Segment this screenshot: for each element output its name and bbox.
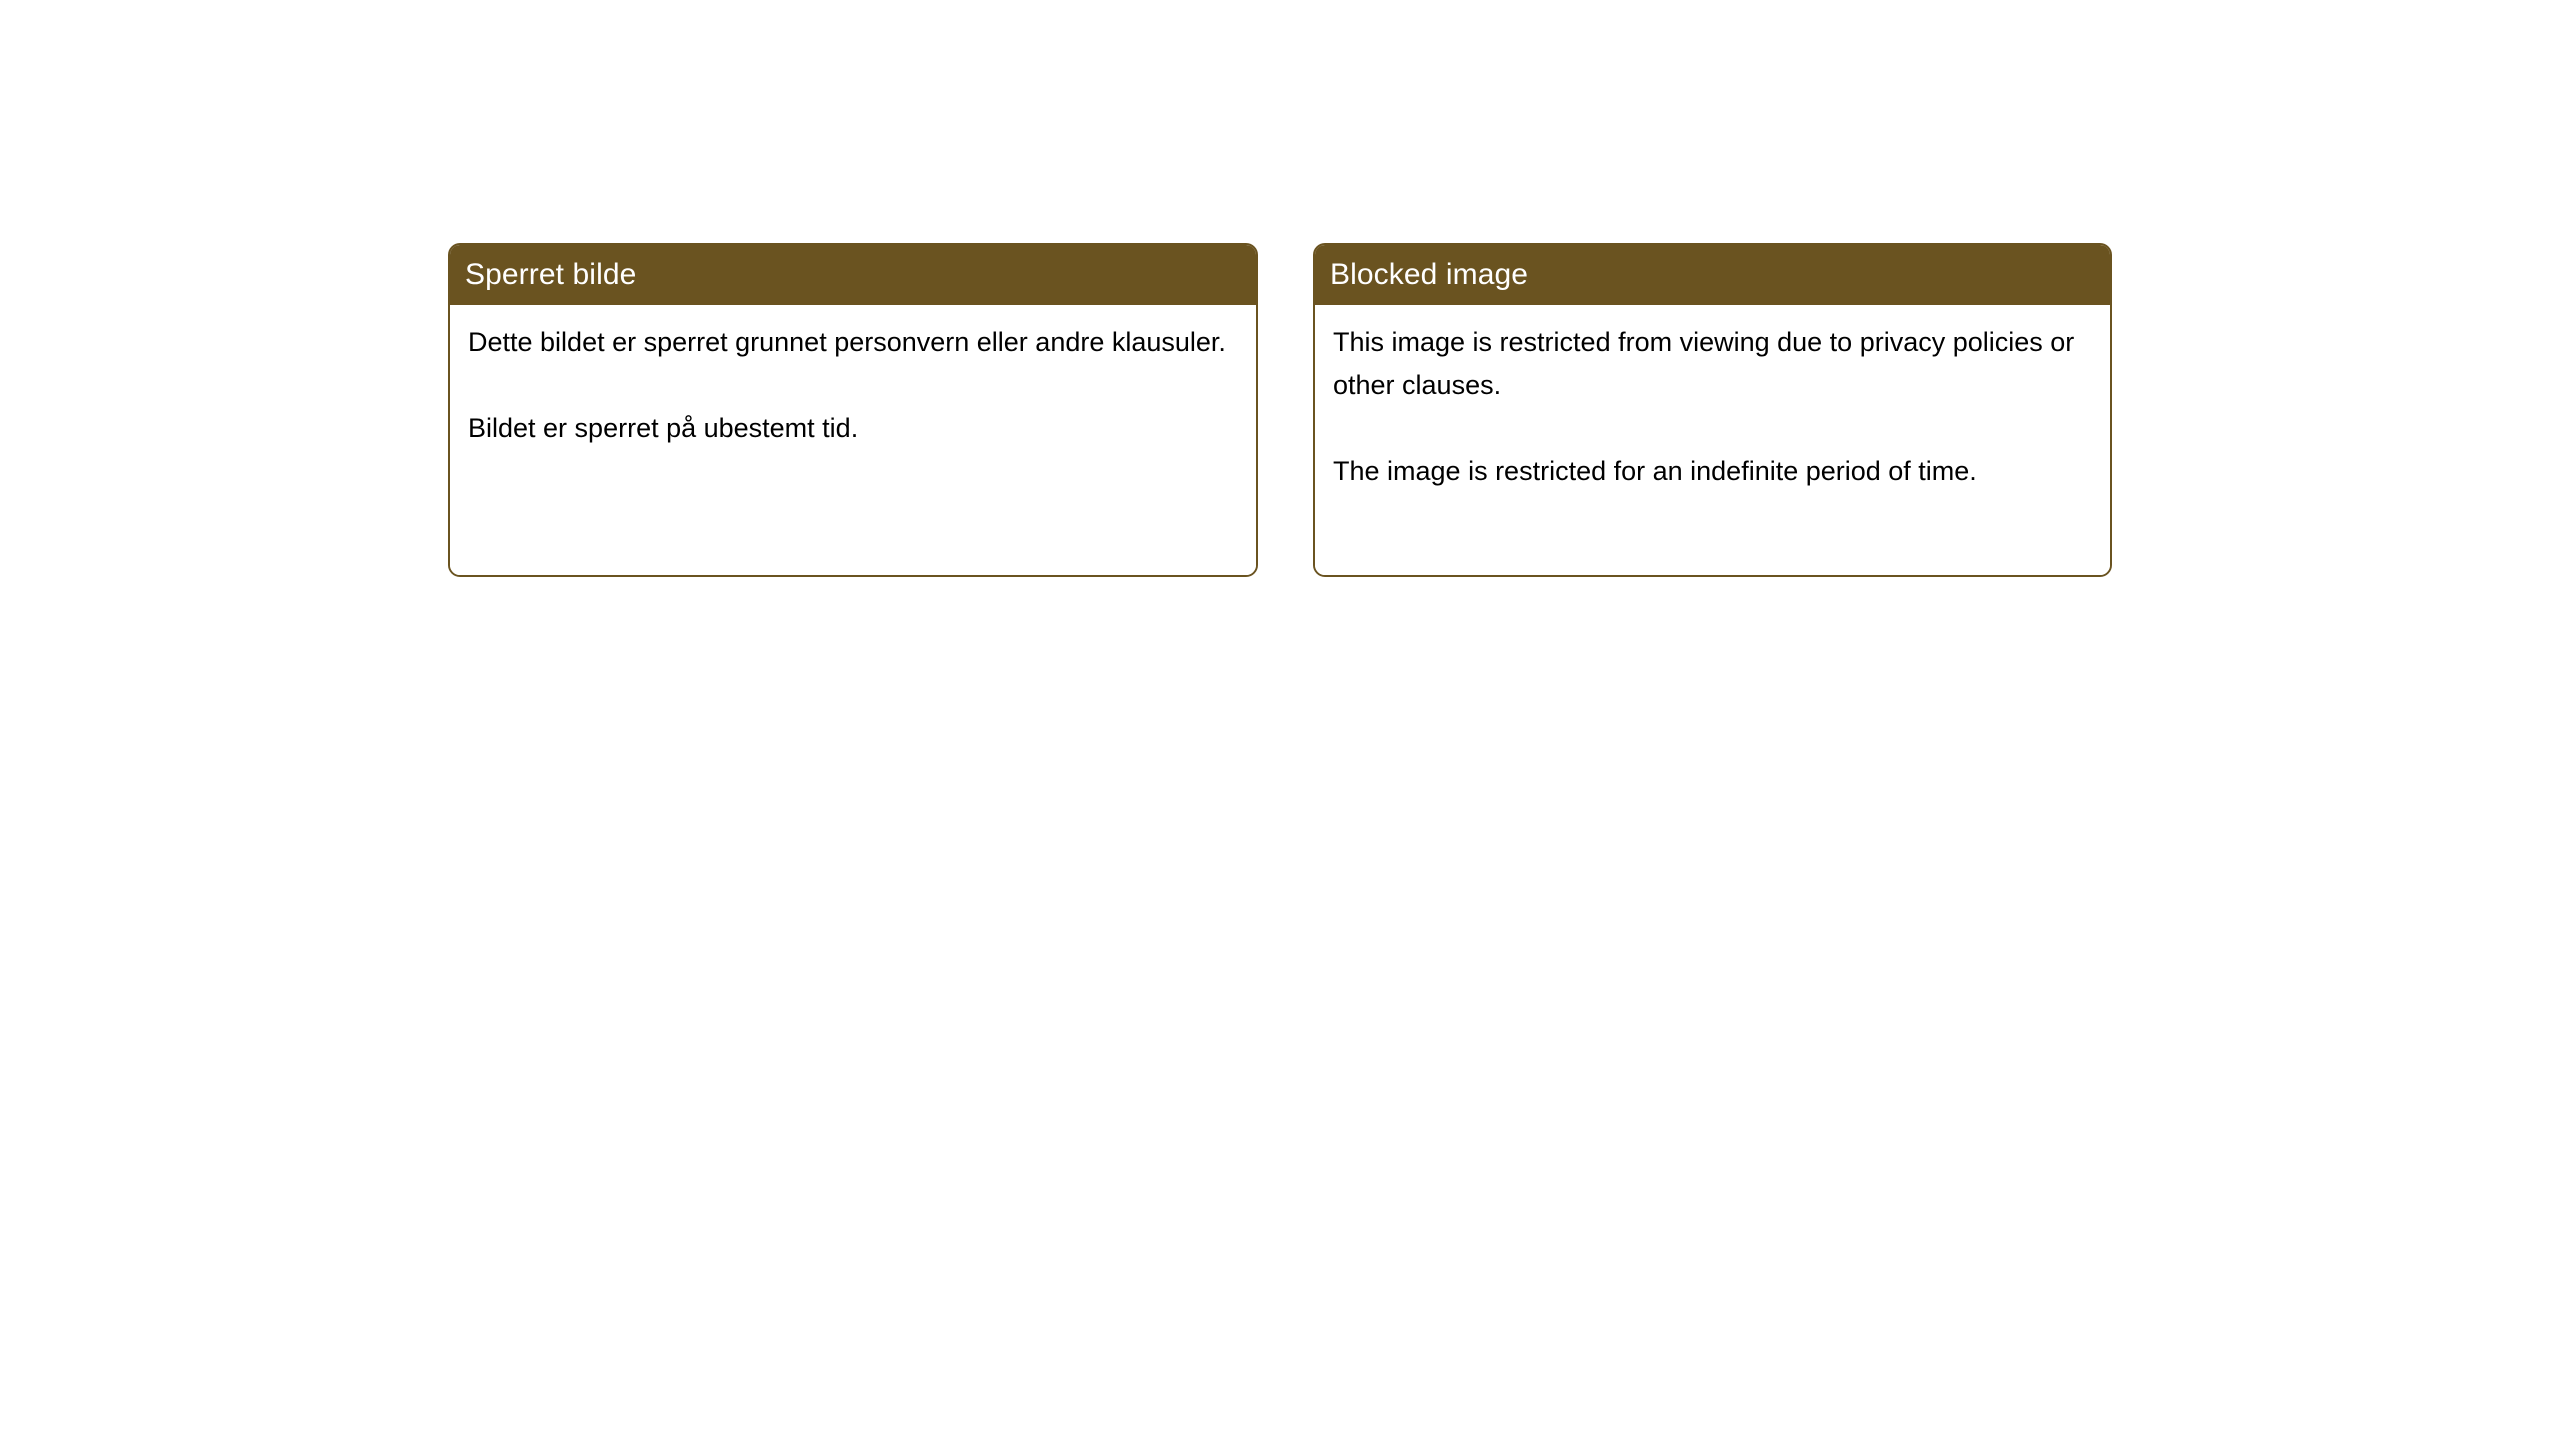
notice-paragraph: The image is restricted for an indefinit… bbox=[1333, 450, 2092, 493]
notice-paragraph: Bildet er sperret på ubestemt tid. bbox=[468, 407, 1238, 450]
notice-paragraph: This image is restricted from viewing du… bbox=[1333, 321, 2092, 407]
notice-title-english: Blocked image bbox=[1330, 259, 1528, 291]
notice-card-header-english: Blocked image bbox=[1315, 245, 2110, 305]
blocked-image-notice-area: Sperret bilde Dette bildet er sperret gr… bbox=[448, 243, 2112, 577]
notice-card-header-norwegian: Sperret bilde bbox=[450, 245, 1256, 305]
notice-card-norwegian: Sperret bilde Dette bildet er sperret gr… bbox=[448, 243, 1258, 577]
notice-body-norwegian: Dette bildet er sperret grunnet personve… bbox=[450, 305, 1256, 575]
notice-paragraph: Dette bildet er sperret grunnet personve… bbox=[468, 321, 1238, 364]
notice-card-english: Blocked image This image is restricted f… bbox=[1313, 243, 2112, 577]
notice-title-norwegian: Sperret bilde bbox=[465, 259, 636, 291]
notice-body-english: This image is restricted from viewing du… bbox=[1315, 305, 2110, 575]
